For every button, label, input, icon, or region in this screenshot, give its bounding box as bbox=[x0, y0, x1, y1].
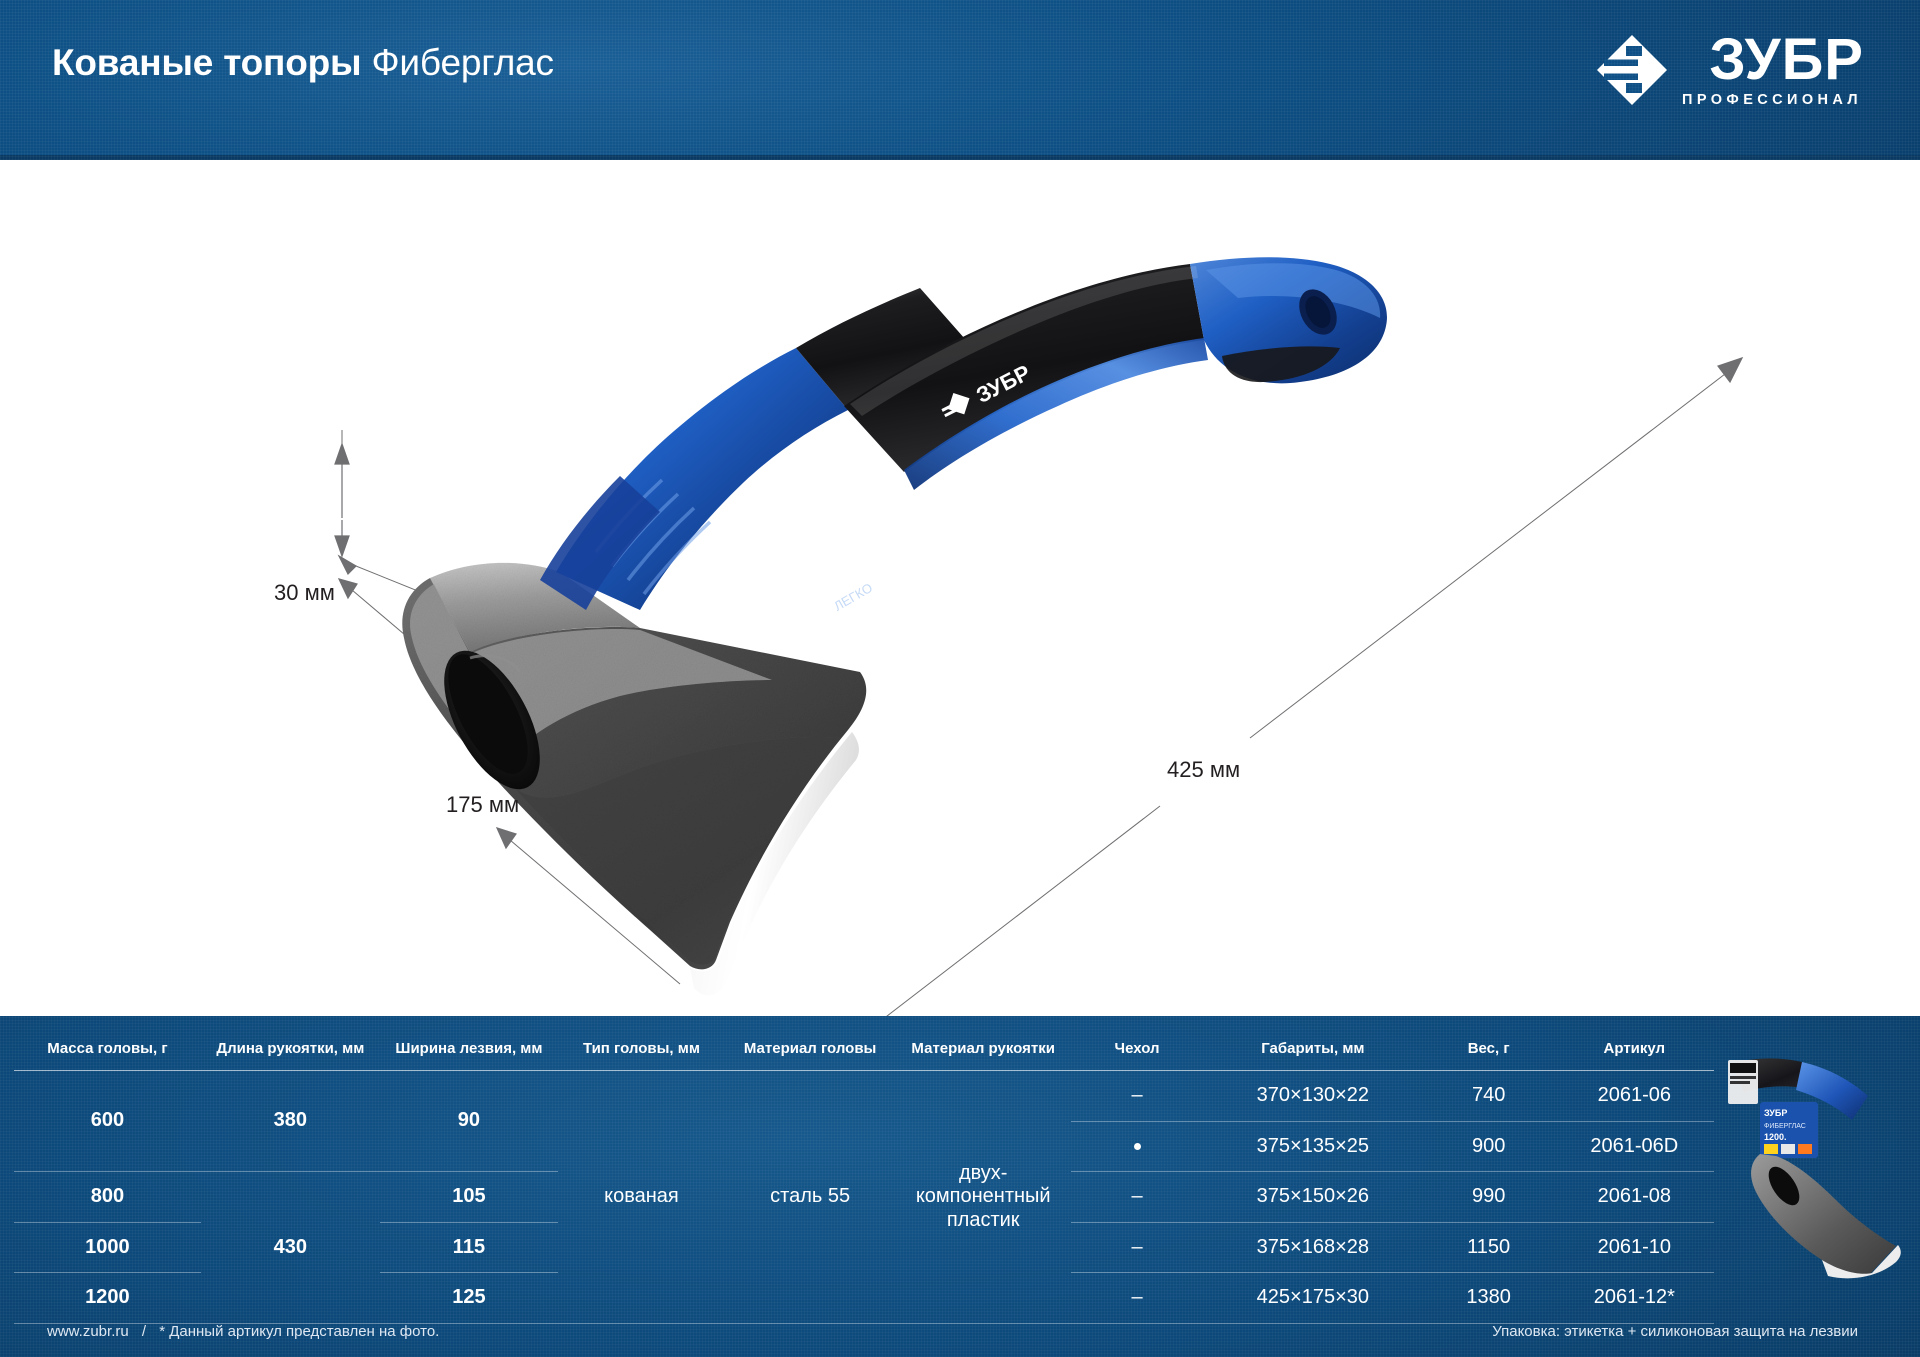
th-handle-material: Материал рукоятки bbox=[895, 1034, 1071, 1071]
page-title: Кованые топоры Фиберглас bbox=[52, 42, 554, 84]
cell-weight: 1380 bbox=[1423, 1273, 1555, 1324]
th-head-material: Материал головы bbox=[725, 1034, 895, 1071]
specifications-table: Масса головы, г Длина рукоятки, мм Ширин… bbox=[14, 1034, 1714, 1324]
cell-article: 2061-06D bbox=[1555, 1121, 1714, 1172]
website-link[interactable]: www.zubr.ru bbox=[47, 1323, 129, 1340]
th-article: Артикул bbox=[1555, 1034, 1714, 1071]
cell-head-mass: 1000 bbox=[14, 1222, 201, 1273]
cell-weight: 990 bbox=[1423, 1172, 1555, 1223]
cell-dimensions: 370×130×22 bbox=[1203, 1071, 1423, 1122]
product-thumbnail: ЗУБР ФИБЕРГЛАС 1200. bbox=[1710, 1050, 1906, 1285]
cell-weight: 740 bbox=[1423, 1071, 1555, 1122]
page-header: Кованые топоры Фиберглас bbox=[0, 0, 1920, 160]
table-row: 600 380 90 кованая сталь 55 двух- компон… bbox=[14, 1071, 1714, 1122]
cell-head-material: сталь 55 bbox=[725, 1071, 895, 1324]
cell-sheath: – bbox=[1071, 1071, 1203, 1122]
th-blade-width: Ширина лезвия, мм bbox=[380, 1034, 558, 1071]
cell-head-mass: 600 bbox=[14, 1071, 201, 1172]
cell-blade-width: 125 bbox=[380, 1273, 558, 1324]
cell-weight: 1150 bbox=[1423, 1222, 1555, 1273]
brand-logo-text: ЗУБР ПРОФЕССИОНАЛ bbox=[1682, 32, 1864, 108]
table-header-row: Масса головы, г Длина рукоятки, мм Ширин… bbox=[14, 1034, 1714, 1071]
cell-head-mass: 800 bbox=[14, 1172, 201, 1223]
brand-name: ЗУБР bbox=[1709, 32, 1864, 88]
cell-article: 2061-10 bbox=[1555, 1222, 1714, 1273]
cell-dimensions: 425×175×30 bbox=[1203, 1273, 1423, 1324]
page-title-bold: Кованые топоры bbox=[52, 42, 361, 83]
cell-sheath bbox=[1071, 1121, 1203, 1172]
cell-handle-length: 430 bbox=[201, 1172, 380, 1324]
svg-text:ФИБЕРГЛАС: ФИБЕРГЛАС bbox=[1764, 1123, 1806, 1130]
brand-tagline: ПРОФЕССИОНАЛ bbox=[1682, 92, 1862, 108]
th-handle-length: Длина рукоятки, мм bbox=[201, 1034, 380, 1071]
handle-material-line-2: компонентный bbox=[916, 1185, 1051, 1207]
th-head-type: Тип головы, мм bbox=[558, 1034, 725, 1071]
svg-text:1200.: 1200. bbox=[1764, 1132, 1787, 1142]
cell-article: 2061-12* bbox=[1555, 1273, 1714, 1324]
th-weight: Вес, г bbox=[1423, 1034, 1555, 1071]
svg-text:ЗУБР: ЗУБР bbox=[1764, 1108, 1787, 1118]
footnote-text: * Данный артикул представлен на фото. bbox=[159, 1323, 439, 1340]
handle-material-line-3: пластик bbox=[947, 1209, 1020, 1231]
brand-logo: ЗУБР ПРОФЕССИОНАЛ bbox=[1596, 32, 1864, 108]
cell-dimensions: 375×168×28 bbox=[1203, 1222, 1423, 1273]
dimension-label-blade-width: 175 мм bbox=[446, 792, 519, 818]
cell-head-type: кованая bbox=[558, 1071, 725, 1324]
cell-blade-width: 115 bbox=[380, 1222, 558, 1273]
zubr-diamond-arrow-icon bbox=[1596, 34, 1668, 106]
svg-text:ЛЕГКО: ЛЕГКО bbox=[831, 580, 875, 614]
th-head-mass: Масса головы, г bbox=[14, 1034, 201, 1071]
cell-sheath: – bbox=[1071, 1273, 1203, 1324]
cell-head-mass: 1200 bbox=[14, 1273, 201, 1324]
dimension-label-thickness: 30 мм bbox=[274, 580, 335, 606]
product-spec-sheet: Кованые топоры Фиберглас bbox=[0, 0, 1920, 1357]
th-sheath: Чехол bbox=[1071, 1034, 1203, 1071]
cell-weight: 900 bbox=[1423, 1121, 1555, 1172]
cell-blade-width: 90 bbox=[380, 1071, 558, 1172]
th-dimensions: Габариты, мм bbox=[1203, 1034, 1423, 1071]
cell-article: 2061-06 bbox=[1555, 1071, 1714, 1122]
cell-handle-material: двух- компонентный пластик bbox=[895, 1071, 1071, 1324]
cell-dimensions: 375×135×25 bbox=[1203, 1121, 1423, 1172]
page-title-light: Фиберглас bbox=[372, 42, 554, 83]
footer-separator: / bbox=[142, 1323, 146, 1340]
sheath-included-dot bbox=[1134, 1143, 1141, 1150]
specifications-panel: Масса головы, г Длина рукоятки, мм Ширин… bbox=[0, 1016, 1920, 1357]
dimension-label-total-length: 425 мм bbox=[1167, 757, 1240, 783]
cell-dimensions: 375×150×26 bbox=[1203, 1172, 1423, 1223]
product-illustration: ЗУБР ЛЕГКО 30 мм 175 мм 425 мм bbox=[0, 160, 1920, 1016]
cell-sheath: – bbox=[1071, 1222, 1203, 1273]
cell-sheath: – bbox=[1071, 1172, 1203, 1223]
footer-left: www.zubr.ru / * Данный артикул представл… bbox=[47, 1323, 439, 1340]
cell-handle-length: 380 bbox=[201, 1071, 380, 1172]
cell-blade-width: 105 bbox=[380, 1172, 558, 1223]
packaging-note: Упаковка: этикетка + силиконовая защита … bbox=[1492, 1323, 1858, 1340]
handle-material-line-1: двух- bbox=[959, 1162, 1008, 1184]
cell-article: 2061-08 bbox=[1555, 1172, 1714, 1223]
